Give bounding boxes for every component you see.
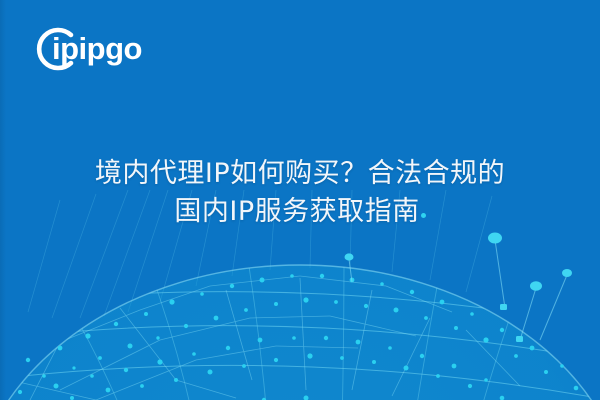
article-banner: ipipgo 境内代理IP如何购买？合法合规的 国内IP服务获取指南 [0, 0, 600, 400]
page-title-line-1: 境内代理IP如何购买？合法合规的 [30, 155, 570, 193]
title-accent-dot [421, 213, 426, 218]
page-title-text-1: 境内代理IP如何购买？合法合规的 [95, 155, 505, 193]
page-title-text-2: 国内IP服务获取指南 [174, 193, 419, 231]
page-title-line-2: 国内IP服务获取指南 [30, 193, 570, 231]
globe-body [0, 260, 600, 400]
brand-logo[interactable]: ipipgo [30, 20, 170, 76]
page-title: 境内代理IP如何购买？合法合规的 国内IP服务获取指南 [0, 155, 600, 231]
brand-logo-text: ipipgo [52, 33, 142, 65]
